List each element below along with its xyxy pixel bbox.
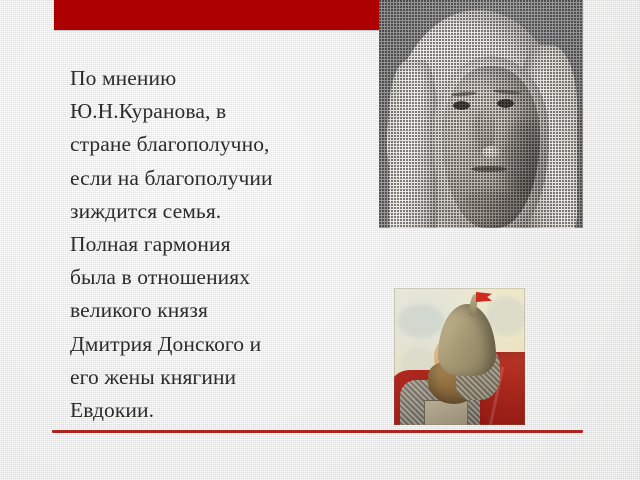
slide-body-text: По мнению Ю.Н.Куранова, в стране благопо…	[70, 62, 320, 427]
eye-right	[497, 99, 514, 108]
veil-fold-left	[389, 60, 437, 228]
eye-left	[453, 101, 470, 110]
armor-breastplate	[424, 400, 468, 425]
presentation-slide: По мнению Ю.Н.Куранова, в стране благопо…	[0, 0, 640, 480]
nose-tip	[482, 146, 500, 158]
bottom-accent-rule	[52, 430, 583, 433]
mouth-shape	[471, 166, 507, 172]
cheek-shadow	[503, 120, 543, 198]
dmitry-donskoy-portrait	[394, 288, 525, 425]
chin-shadow	[465, 190, 515, 212]
foliage-left	[398, 304, 444, 338]
woman-in-veil-photo	[379, 0, 583, 228]
